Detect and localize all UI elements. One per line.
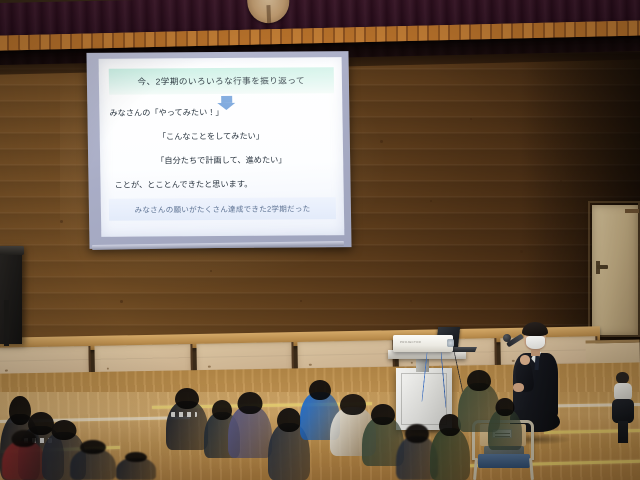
audience-child <box>70 440 116 480</box>
projector-label: PROJECTOR <box>400 340 421 344</box>
child-head <box>175 388 199 409</box>
wall-knot <box>470 118 472 120</box>
face-mask-icon <box>526 336 545 349</box>
child-head <box>125 452 147 462</box>
audience-child <box>2 430 46 480</box>
audience-child <box>166 388 208 450</box>
wall-knot <box>120 300 123 303</box>
slide-line-2: 「こんなことをしてみたい」 <box>158 130 264 143</box>
pa-speaker-top <box>0 246 24 255</box>
child-head <box>277 408 301 432</box>
child-head <box>52 420 77 440</box>
wall-knot <box>300 300 302 302</box>
slide-line-3: 「自分たちで計画して、進めたい」 <box>156 154 287 167</box>
slide-footer-band: みなさんの願いがたくさん達成できた2学期だった <box>109 197 336 221</box>
projector-lens-icon <box>447 339 454 347</box>
presenter-hand-holding-mic <box>520 355 530 365</box>
child-head <box>309 380 331 400</box>
slide-title-band: 今、2学期のいろいろな行事を振り返って <box>109 67 334 95</box>
fan-ornament-icon <box>247 0 290 24</box>
gymnasium-assembly-photo: 今、2学期のいろいろな行事を振り返って みなさんの「やってみたい！」 「こんなこ… <box>0 0 640 480</box>
projection-screen: 今、2学期のいろいろな行事を振り返って みなさんの「やってみたい！」 「こんなこ… <box>86 51 351 249</box>
door-closer <box>625 209 639 213</box>
slide-line-4: ことが、とことんできたと思います。 <box>114 178 252 191</box>
slide-title: 今、2学期のいろいろな行事を振り返って <box>138 74 306 87</box>
door-handle[interactable] <box>597 265 608 269</box>
cart-column <box>416 358 429 372</box>
audience-child <box>116 452 156 480</box>
child-head <box>405 424 429 443</box>
chair-seat <box>478 454 530 468</box>
child-head <box>371 404 395 425</box>
slide-footer-text: みなさんの願いがたくさん達成できた2学期だった <box>134 203 310 215</box>
standing-person-bottom <box>612 399 634 423</box>
child-head <box>467 370 491 391</box>
standing-person-legs <box>618 421 628 443</box>
presenter-hair <box>522 322 548 336</box>
microphone-capsule <box>503 334 511 342</box>
child-head <box>496 398 515 416</box>
jacket-print <box>171 412 197 417</box>
wall-knot <box>410 300 412 302</box>
child-head <box>80 440 106 454</box>
audience-child <box>488 398 522 450</box>
pa-speaker-stand <box>4 300 9 346</box>
child-head <box>238 392 263 414</box>
audience-child <box>228 392 272 458</box>
chair-leg-left <box>473 458 478 480</box>
chair-leg-right <box>529 458 534 480</box>
presenter-hand-resting <box>513 383 524 392</box>
presentation-slide: 今、2学期のいろいろな行事を振り返って みなさんの「やってみたい！」 「こんなこ… <box>99 57 345 237</box>
standing-person-right <box>606 372 638 448</box>
wall-knot <box>430 200 432 202</box>
child-head <box>12 430 37 447</box>
slide-line-1: みなさんの「やってみたい！」 <box>109 106 223 119</box>
